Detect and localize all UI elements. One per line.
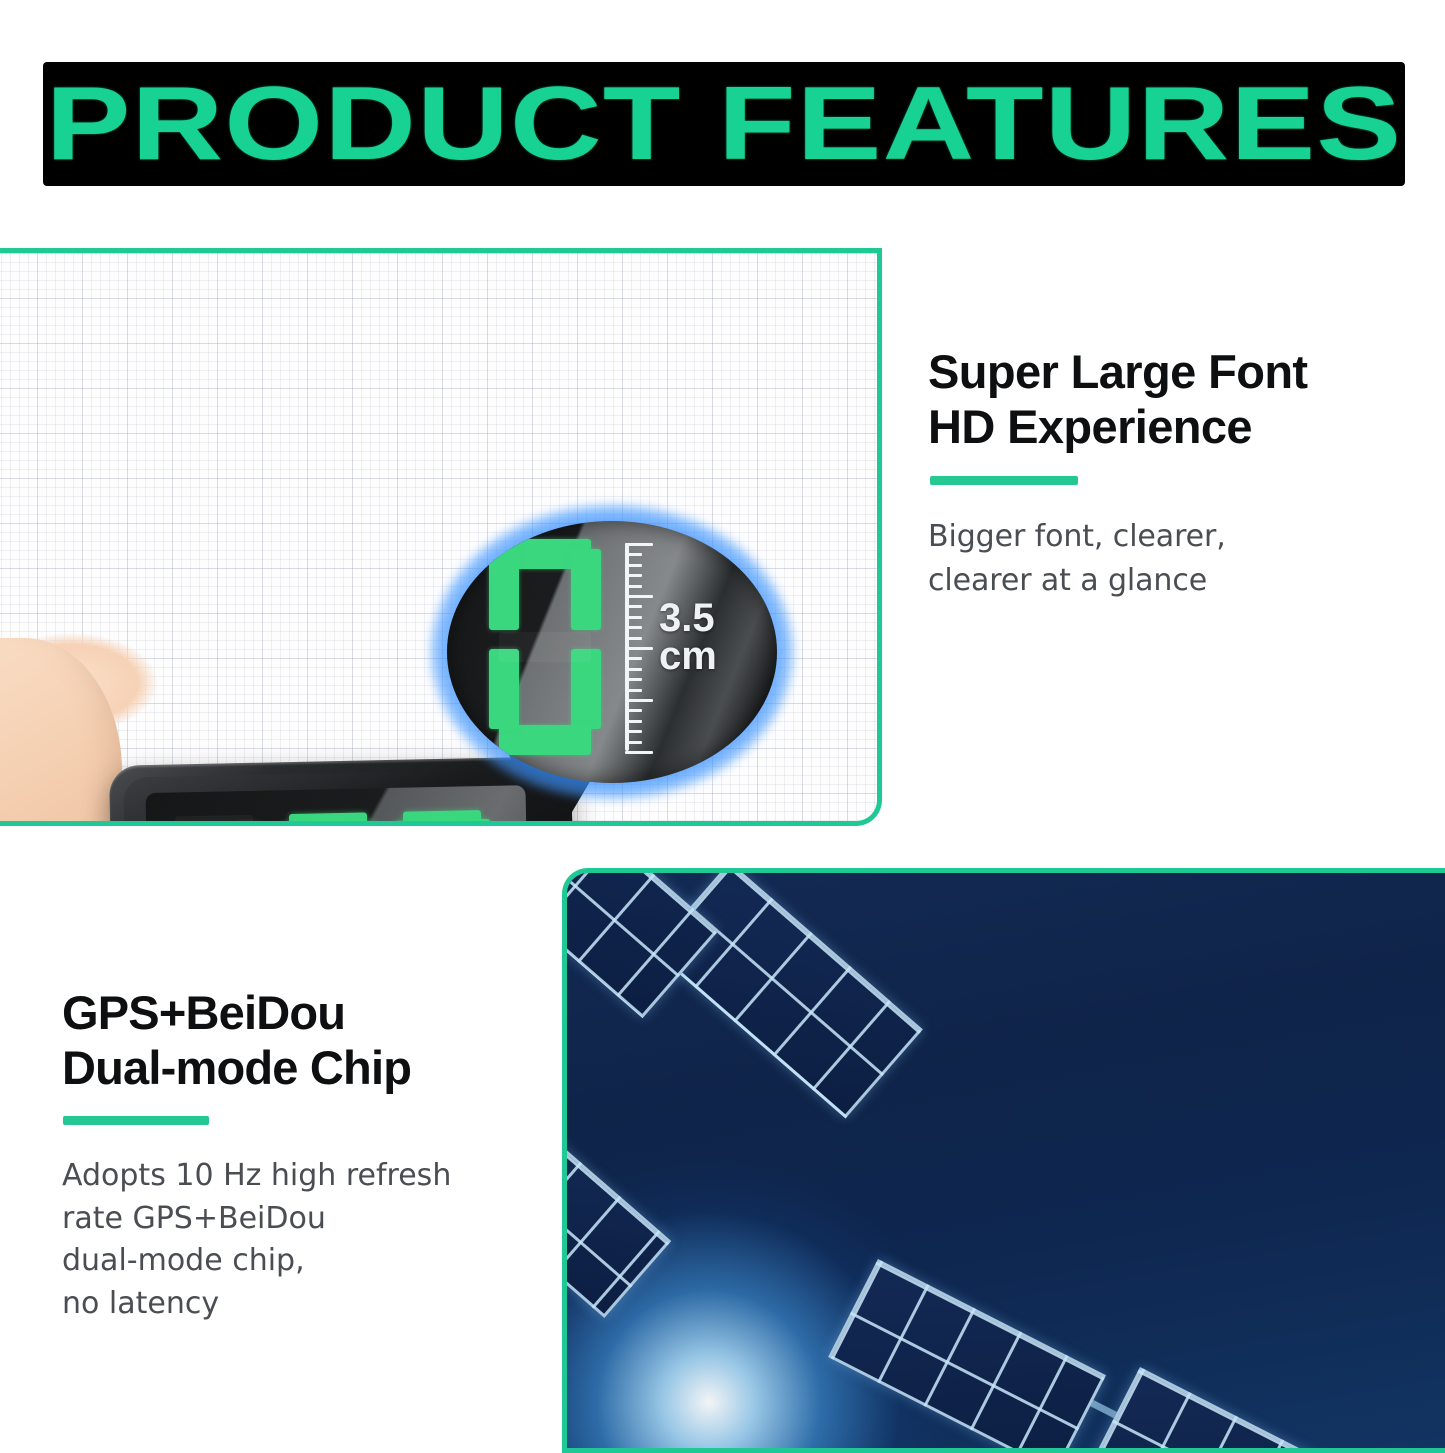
feature-text-top: Super Large Font HD Experience Bigger fo… [928,345,1428,602]
segment-f [280,823,308,826]
seven-segment-digit [166,815,266,826]
feature-heading-bottom-line2: Dual-mode Chip [62,1041,411,1094]
seven-segment-digit [280,812,380,826]
device-screen-top: Km/h [145,785,530,826]
ruler-tick [625,616,642,619]
measurement-label: 3.5 cm [659,599,755,676]
segment-d [499,725,591,755]
feature-body-bottom-line4: no latency [62,1286,219,1321]
segment-f [394,820,422,826]
feature-heading-top-line2: HD Experience [928,400,1252,453]
ruler-tick [625,741,642,744]
feature-body-bottom-line3: dual-mode chip, [62,1243,305,1278]
product-feature-infographic: PRODUCT FEATURES Km/h [0,0,1445,1445]
segment-b [571,549,601,630]
feature-heading-bottom-line1: GPS+BeiDou [62,986,345,1039]
ruler-tick [625,574,642,577]
segment-a [175,815,254,826]
speed-readout-digits-top [166,810,494,826]
feature-body-top-line2: clearer at a glance [928,563,1207,598]
ruler-tick [625,751,653,754]
measurement-unit: cm [659,634,717,678]
heading-divider-top [930,476,1078,485]
ruler-tick [625,647,653,650]
feature-body-bottom-line1: Adopts 10 Hz high refresh [62,1158,451,1193]
title-banner: PRODUCT FEATURES [43,62,1405,186]
ruler-tick [625,637,642,640]
magnifier-callout: 3.5 cm [447,521,777,783]
feature-heading-top-line1: Super Large Font [928,345,1307,398]
segment-g [499,632,591,662]
ruler-tick [625,626,642,629]
feature-heading-bottom: GPS+BeiDou Dual-mode Chip [62,985,582,1096]
ruler-tick [625,699,653,702]
callout-bubble: 3.5 cm [447,521,777,783]
segment-a [289,812,368,826]
feature-body-bottom: Adopts 10 Hz high refresh rate GPS+BeiDo… [62,1155,582,1325]
heading-divider-bottom [63,1116,209,1125]
ruler-tick [625,543,653,546]
ruler-tick [625,595,653,598]
segment-f [489,549,519,630]
feature-body-top: Bigger font, clearer, clearer at a glanc… [928,515,1428,602]
segment-a [403,810,482,826]
segment-b [464,819,492,826]
ruler-scale-icon [625,543,655,751]
ruler-tick [625,720,642,723]
ruler-tick [625,605,642,608]
seven-segment-digit [394,810,494,826]
ruler-tick [625,585,642,588]
segment-b [350,821,378,826]
feature-text-bottom: GPS+BeiDou Dual-mode Chip Adopts 10 Hz h… [62,985,582,1325]
ruler-tick [625,730,642,733]
measurement-value: 3.5 [659,596,715,640]
seven-segment-digit [489,539,601,755]
segment-f [166,825,194,826]
ruler-tick [625,668,642,671]
ruler-tick [625,564,642,567]
ruler-tick [625,678,642,681]
panel-gps-space-photo: MPH KM/H [562,868,1445,1453]
ruler-tick [625,709,642,712]
feature-heading-top: Super Large Font HD Experience [928,345,1428,454]
page-title: PRODUCT FEATURES [46,72,1402,176]
feature-body-top-line1: Bigger font, clearer, [928,519,1226,554]
magnified-digit [489,539,601,755]
panel-large-font-photo: Km/h 3.5 cm [0,248,882,826]
feature-body-bottom-line2: rate GPS+BeiDou [62,1201,326,1236]
segment-b [236,824,264,826]
ruler-tick [625,689,642,692]
ruler-tick [625,657,642,660]
ruler-tick [625,553,642,556]
